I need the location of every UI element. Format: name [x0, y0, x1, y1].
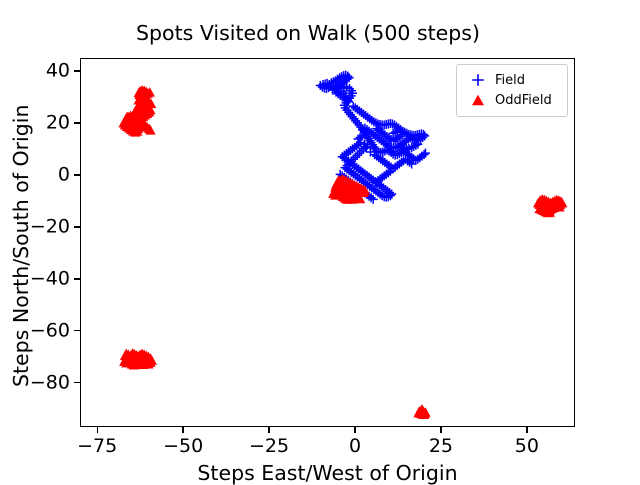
x-tick: [354, 427, 355, 433]
y-axis-label: Steps North/South of Origin: [11, 105, 32, 387]
triangle-icon: [463, 92, 493, 108]
y-tick: [74, 330, 80, 331]
y-tick: [74, 278, 80, 279]
y-tick: [74, 70, 80, 71]
x-tick-label: 25: [429, 437, 453, 456]
y-tick-label: 40: [8, 61, 70, 80]
x-tick: [440, 427, 441, 433]
page-title: Spots Visited on Walk (500 steps): [0, 21, 628, 45]
matplotlib-figure: Spots Visited on Walk (500 steps) −75−50…: [0, 0, 640, 480]
series-oddfield: [118, 85, 567, 419]
x-tick-label: −50: [163, 437, 203, 456]
x-tick: [182, 427, 183, 433]
series-field: [316, 71, 430, 204]
chart-legend[interactable]: Field OddField: [456, 64, 568, 117]
x-tick: [268, 427, 269, 433]
plus-icon: [463, 72, 493, 88]
x-tick: [526, 427, 527, 433]
x-axis-label: Steps East/West of Origin: [80, 461, 575, 485]
x-tick-label: −25: [249, 437, 289, 456]
y-tick: [74, 226, 80, 227]
x-tick-label: 50: [515, 437, 539, 456]
y-tick: [74, 174, 80, 175]
x-tick-label: −75: [77, 437, 117, 456]
y-tick: [74, 382, 80, 383]
legend-item-oddfield: OddField: [463, 90, 561, 110]
legend-label-oddfield: OddField: [493, 93, 552, 108]
legend-item-field: Field: [463, 70, 561, 90]
x-tick: [97, 427, 98, 433]
x-tick-label: 0: [349, 437, 361, 456]
y-tick: [74, 122, 80, 123]
legend-label-field: Field: [493, 73, 525, 88]
